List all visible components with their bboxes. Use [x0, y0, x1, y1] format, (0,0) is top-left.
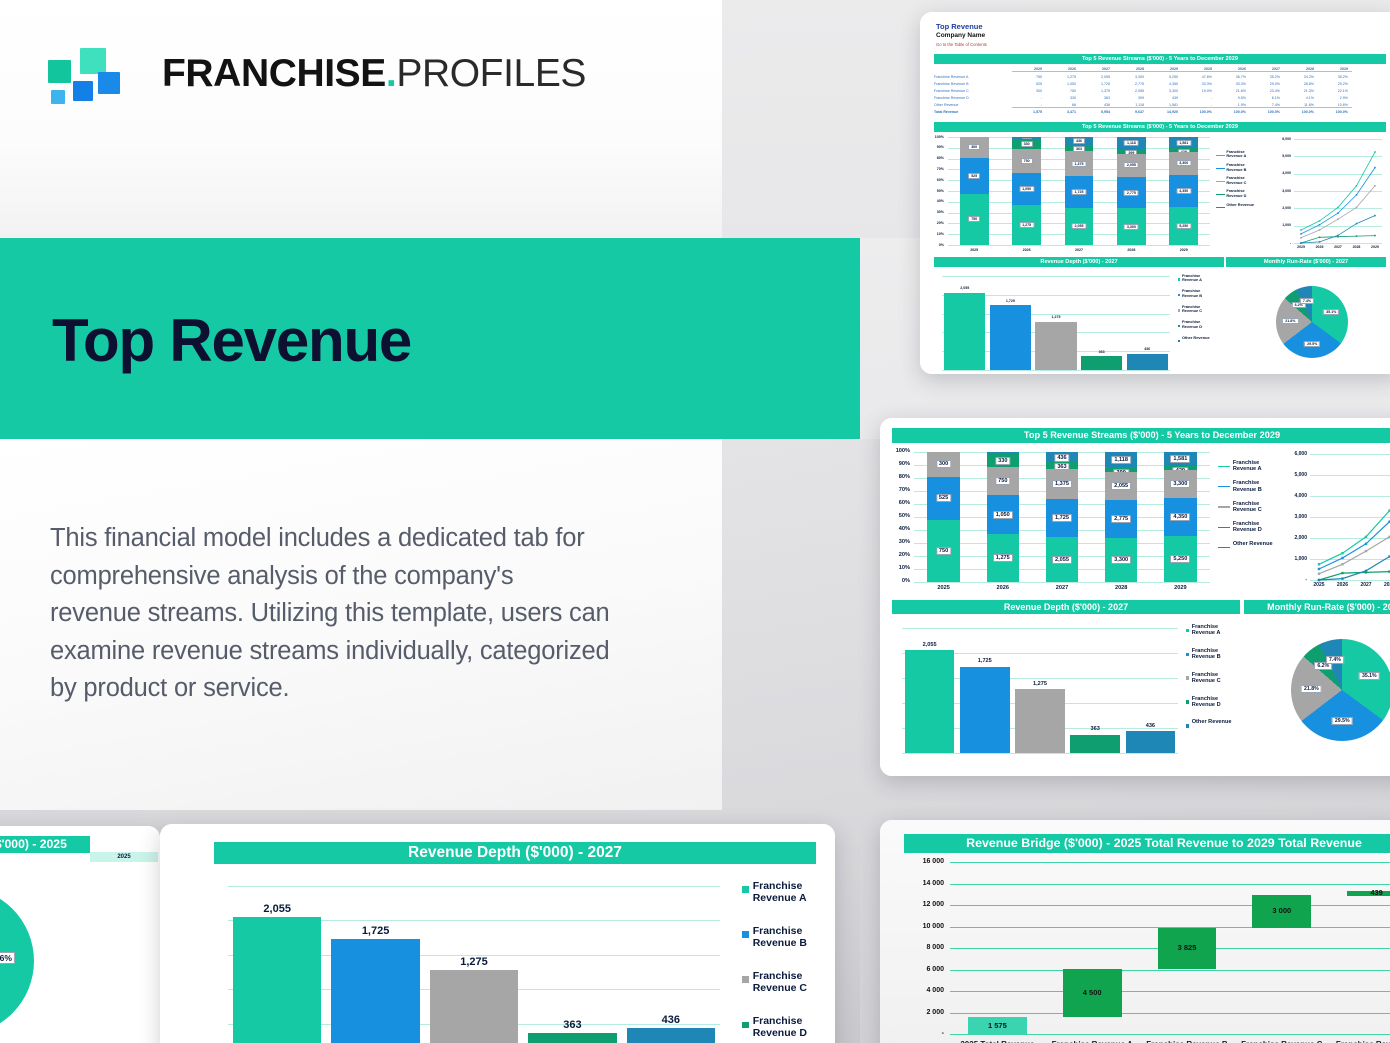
table-year-header: 2029: [1148, 67, 1182, 72]
legend-item: Other Revenue: [1216, 203, 1276, 207]
stacked-bar-segment: 750: [960, 194, 989, 245]
pie-slice-label: 7.4%: [1326, 656, 1344, 664]
banner-runrate-large: Monthly Run-Rate ($'000) - 2027: [1244, 600, 1390, 614]
table-cell-pct: 29.2%: [1318, 82, 1352, 86]
bridge-gridline: [950, 991, 1390, 992]
table-cell: 66: [1046, 103, 1080, 108]
y-axis-tick: 100%: [892, 448, 910, 454]
charts-sheet-large: Top 5 Revenue Streams ($'000) - 5 Years …: [880, 418, 1390, 776]
legend-color-swatch: [1186, 629, 1189, 632]
stacked-bar-segment: 1,275: [1012, 205, 1041, 245]
stacked-bar-column[interactable]: 1,5814293,3004,3505,250: [1164, 452, 1197, 582]
table-cell-pct: 28.8%: [1284, 82, 1318, 86]
y-axis-tick: 50%: [892, 513, 910, 519]
table-cell-pct: 34.2%: [1284, 75, 1318, 79]
table-row-label: Franchise Revenue C: [934, 89, 1006, 93]
y-axis-tick: 90%: [892, 461, 910, 467]
table-cell-pct: 100.0%: [1284, 110, 1318, 114]
table-cell: 750: [1046, 89, 1080, 93]
depth-bar-value: 2,055: [233, 903, 322, 915]
stacked-bar-segment: 3,300: [1105, 538, 1138, 582]
pie-slice-label: 7.4%: [1300, 298, 1314, 304]
table-cell-pct: 36.7%: [1216, 75, 1250, 79]
logo-mark-icon: [46, 46, 114, 108]
segment-value-label: 1,275: [1019, 222, 1034, 228]
pie-slice-label: 47.6%: [0, 952, 15, 964]
stacked-bar-segment: 2,055: [1046, 537, 1079, 582]
x-axis-category: 2029: [1158, 248, 1210, 252]
sheet-title: Top Revenue: [936, 22, 983, 31]
stacked-bar-segment: 1,050: [1012, 173, 1041, 206]
segment-value-label: 3,300: [1124, 224, 1139, 230]
background-top-left: [0, 0, 722, 238]
legend-label: FranchiseRevenue D: [1226, 189, 1246, 198]
legend-color-swatch: [1218, 486, 1230, 488]
legend-label: FranchiseRevenue D: [1233, 521, 1262, 534]
depth-sheet-bottom: Revenue Depth ($'000) - 2027 2,0551,7251…: [160, 824, 835, 1043]
legend-color-swatch: [1218, 527, 1230, 529]
legend-label: FranchiseRevenue B: [1182, 289, 1202, 298]
depth-bar[interactable]: [944, 293, 985, 370]
stacked-bar-segment: 3,300: [1117, 208, 1146, 245]
runrate-pie-large[interactable]: 35.1%29.5%21.8%6.2%7.4%: [1246, 618, 1390, 763]
stacked-bar-segment: 2,775: [1117, 177, 1146, 208]
depth-bar[interactable]: [233, 917, 322, 1043]
table-cell-pct: 100.0%: [1250, 110, 1284, 114]
pie-legend-year-2025: 2025: [90, 852, 158, 862]
x-axis-category: 2025: [914, 585, 973, 591]
stacked-bar-segment: 2,775: [1105, 500, 1138, 537]
legend-item: FranchiseRevenue A: [742, 880, 834, 904]
bridge-y-tick: -: [904, 1030, 944, 1037]
table-cell-pct: 23.4%: [1250, 89, 1284, 93]
brand-name-light: PROFILES: [396, 52, 586, 95]
table-cell-pct: 7.4%: [1250, 103, 1284, 108]
bridge-y-tick: 8 000: [904, 944, 944, 951]
table-cell: -: [1012, 103, 1046, 108]
table-cell-pct: 22.1%: [1318, 89, 1352, 93]
stacked-bar-segment: 1,581: [1169, 137, 1198, 148]
screenshot-card-spreadsheet[interactable]: Top Revenue Company Name Go to the Table…: [920, 12, 1390, 374]
table-row-label: Other Revenue: [934, 103, 1006, 107]
legend-item: FranchiseRevenue A: [1218, 460, 1282, 473]
bridge-bar-value: 3 825: [1158, 943, 1217, 952]
legend-item: FranchiseRevenue D: [1178, 320, 1226, 329]
banner-depth-bottom: Revenue Depth ($'000) - 2027: [214, 842, 816, 864]
segment-value-label: 3,300: [1111, 556, 1131, 564]
table-cell-pct: 9.5%: [1216, 96, 1250, 100]
revenue-bridge-chart[interactable]: -2 0004 0006 0008 00010 00012 00014 0001…: [904, 856, 1390, 1043]
depth-bar-value: 436: [1126, 723, 1176, 729]
legend-item: Other Revenue: [1218, 541, 1282, 547]
table-cell-pct: 100.0%: [1216, 110, 1250, 114]
legend-color-swatch: [1218, 466, 1230, 468]
stacked-bar-segment: 4,350: [1169, 175, 1198, 207]
depth-bar[interactable]: [430, 970, 519, 1043]
stacked-bar-segment: 525: [927, 477, 960, 520]
legend-label: FranchiseRevenue A: [1233, 460, 1262, 473]
legend-label: FranchiseRevenue C: [753, 970, 807, 994]
line-chart-mini[interactable]: 6,0005,0004,0003,0002,0001,000-202520262…: [1276, 133, 1386, 255]
legend-color-swatch: [1216, 194, 1225, 195]
line-chart-large[interactable]: 6,0005,0004,0003,0002,0001,000-202520262…: [1284, 446, 1390, 596]
legend-item: FranchiseRevenue D: [1218, 521, 1282, 534]
bridge-gridline: [950, 862, 1390, 863]
screenshot-card-pie-2025[interactable]: Monthly Run-Rate ($'000) - 2025 2025 47.…: [0, 826, 160, 1043]
revenue-table: 2025202520262026202720272028202820292029…: [934, 67, 1386, 119]
pie-slice-label: 29.5%: [1332, 717, 1353, 725]
table-year-header: 2028: [1114, 67, 1148, 72]
depth-bar[interactable]: [990, 305, 1031, 370]
chart-gridline: [948, 245, 1210, 246]
table-cell: 525: [1012, 82, 1046, 86]
legend-color-swatch: [742, 1022, 749, 1029]
table-cell: 2,775: [1114, 82, 1148, 86]
line-x-tick: 2028: [1376, 582, 1390, 588]
segment-value-label: 1,725: [1071, 189, 1086, 195]
legend-item: FranchiseRevenue A: [1216, 150, 1276, 159]
table-cell-pct: 100.0%: [1318, 110, 1352, 114]
stacked-bar-segment: 5,250: [1164, 536, 1197, 582]
brand-name-dot: .: [386, 52, 396, 95]
legend-item: FranchiseRevenue B: [1218, 480, 1282, 493]
y-axis-tick: 0%: [892, 578, 910, 584]
depth-bar[interactable]: [1035, 322, 1076, 370]
legend-item: FranchiseRevenue B: [1186, 648, 1244, 661]
x-axis-category: 2028: [1105, 248, 1157, 252]
screenshot-card-charts-large[interactable]: Top 5 Revenue Streams ($'000) - 5 Years …: [880, 418, 1390, 776]
bridge-y-tick: 2 000: [904, 1009, 944, 1016]
stacked-bar-column[interactable]: 0300525750: [960, 137, 989, 245]
stacked-bar-column[interactable]: 663307501,0501,275: [987, 452, 1020, 582]
pie-slice-label: 21.8%: [1301, 685, 1322, 693]
segment-value-label: 2,775: [1124, 190, 1139, 196]
stacked-bar-column[interactable]: 0300525750: [927, 452, 960, 582]
depth-bar[interactable]: [1126, 731, 1176, 753]
pie-slice-label: 35.1%: [1323, 309, 1339, 315]
stacked-bar-segment: 1,581: [1164, 452, 1197, 466]
segment-value-label: 1,118: [1124, 140, 1139, 146]
table-cell: 3,300: [1148, 89, 1182, 93]
depth-bar-value: 363: [1081, 350, 1122, 354]
table-cell-pct: 35.2%: [1318, 75, 1352, 79]
page-title: Top Revenue: [52, 305, 411, 377]
table-row-label: Total Revenue: [934, 110, 1006, 114]
legend-item: Other Revenue: [1178, 336, 1226, 341]
legend-color-swatch: [742, 886, 749, 893]
table-cell: 14,920: [1148, 110, 1182, 114]
brand-wordmark: FRANCHISE.PROFILES: [162, 48, 586, 100]
bridge-y-tick: 16 000: [904, 858, 944, 865]
y-axis-tick: 80%: [892, 474, 910, 480]
table-cell: 300: [1012, 89, 1046, 93]
table-cell: 2,055: [1080, 75, 1114, 79]
segment-value-label: 1,118: [1111, 456, 1131, 464]
banner-top5-large: Top 5 Revenue Streams ($'000) - 5 Years …: [892, 428, 1390, 443]
chart-gridline: [902, 753, 1178, 754]
table-cell-pct: 33.3%: [1182, 82, 1216, 86]
depth-bar[interactable]: [1070, 735, 1120, 753]
y-axis-tick: 100%: [934, 135, 944, 139]
table-row-label: Franchise Revenue B: [934, 82, 1006, 86]
pie-chart-2025[interactable]: 47.6%33.3%19.0%0.0%0.0%: [0, 866, 50, 1043]
table-cell-pct: 30.3%: [1216, 82, 1250, 86]
segment-value-label: 4,350: [1170, 513, 1190, 521]
legend-label: Other Revenue: [1182, 336, 1210, 340]
stacked-bar-segment: 1,275: [987, 534, 1020, 582]
bridge-gridline: [950, 1034, 1390, 1035]
legend-item: Other Revenue: [1186, 719, 1244, 725]
depth-bar[interactable]: [528, 1033, 617, 1043]
table-cell-pct: 10.6%: [1318, 103, 1352, 108]
bridge-y-tick: 6 000: [904, 966, 944, 973]
depth-bar[interactable]: [331, 939, 420, 1043]
stacked-bar-segment: 4,350: [1164, 498, 1197, 536]
segment-value-label: 2,055: [1124, 162, 1139, 168]
legend-color-swatch: [1186, 700, 1189, 703]
stacked-bar-segment: 1,375: [1065, 151, 1094, 176]
segment-value-label: 2,055: [1052, 556, 1072, 564]
stacked-bar-segment: 1,050: [987, 495, 1020, 534]
segment-value-label: 525: [968, 173, 980, 179]
stacked-bar-column[interactable]: 1,1183992,0552,7753,300: [1117, 137, 1146, 245]
table-cell: 1,581: [1148, 103, 1182, 108]
table-cell-pct: 2.9%: [1318, 96, 1352, 100]
table-cell: 750: [1012, 75, 1046, 79]
table-year-header-pct: 2029: [1318, 67, 1352, 72]
x-axis-category: 2026: [1000, 248, 1052, 252]
table-cell: 5,250: [1148, 75, 1182, 79]
y-axis-tick: 20%: [892, 552, 910, 558]
depth-bar-value: 1,275: [1035, 315, 1076, 319]
segment-value-label: 3,300: [1176, 160, 1191, 166]
stacked-bar-segment: 5,250: [1169, 207, 1198, 245]
chart-gridline: [914, 582, 1210, 583]
brand-name-bold: FRANCHISE: [162, 52, 386, 95]
legend-item: FranchiseRevenue A: [1186, 624, 1244, 637]
y-axis-tick: 40%: [892, 526, 910, 532]
legend-color-swatch: [742, 976, 749, 983]
stacked-bar-column[interactable]: 1,1183992,0552,7753,300: [1105, 452, 1138, 582]
legend-color-swatch: [1178, 278, 1180, 280]
segment-value-label: 1,375: [1052, 480, 1072, 488]
line-series-svg: [1276, 133, 1386, 255]
table-cell: 1,118: [1114, 103, 1148, 108]
depth-bar[interactable]: [1127, 354, 1168, 370]
depth-bar-value: 436: [627, 1014, 716, 1026]
bridge-sheet: Revenue Bridge ($'000) - 2025 Total Reve…: [880, 820, 1390, 1043]
segment-value-label: 330: [995, 457, 1010, 465]
segment-value-label: 1,275: [993, 554, 1013, 562]
segment-value-label: 436: [1054, 454, 1069, 462]
legend-item: FranchiseRevenue C: [1186, 672, 1244, 685]
legend-label: FranchiseRevenue C: [1192, 672, 1221, 685]
legend-color-swatch: [1178, 309, 1180, 311]
bridge-y-tick: 14 000: [904, 880, 944, 887]
table-cell: 1,050: [1046, 82, 1080, 86]
y-axis-tick: 60%: [892, 500, 910, 506]
table-year-header: 2025: [1012, 67, 1046, 72]
stacked-bar-segment: 1,725: [1046, 499, 1079, 537]
segment-value-label: 1,050: [1019, 186, 1034, 192]
banner-bridge: Revenue Bridge ($'000) - 2025 Total Reve…: [904, 834, 1390, 853]
segment-value-label: 3,300: [1170, 480, 1190, 488]
table-cell-pct: 4.1%: [1284, 96, 1318, 100]
pie-slice-label: 35.1%: [1359, 672, 1380, 680]
table-year-header: 2026: [1046, 67, 1080, 72]
stacked-bar-chart-mini[interactable]: 100%90%80%70%60%50%40%30%20%10%0%0300525…: [934, 133, 1214, 255]
legend-item: FranchiseRevenue C: [1218, 501, 1282, 514]
y-axis-tick: 10%: [934, 232, 944, 236]
stacked-bar-chart-large[interactable]: 100%90%80%70%60%50%40%30%20%10%0%0300525…: [892, 446, 1214, 596]
legend-label: FranchiseRevenue B: [1233, 480, 1262, 493]
revenue-depth-legend-bottom: FranchiseRevenue AFranchiseRevenue BFran…: [742, 880, 834, 1043]
depth-bar[interactable]: [905, 650, 955, 753]
legend-label: FranchiseRevenue C: [1233, 501, 1262, 514]
segment-value-label: 1,581: [1170, 455, 1190, 463]
bridge-y-tick: 12 000: [904, 901, 944, 908]
depth-bar-value: 363: [528, 1019, 617, 1031]
table-year-header-pct: 2026: [1216, 67, 1250, 72]
sheet-company-name: Company Name: [936, 32, 985, 39]
screenshot-card-bridge[interactable]: Revenue Bridge ($'000) - 2025 Total Reve…: [880, 820, 1390, 1043]
legend-label: Other Revenue: [1192, 719, 1232, 725]
y-axis-tick: 0%: [934, 243, 944, 247]
legend-item: FranchiseRevenue C: [1216, 176, 1276, 185]
runrate-pie-mini[interactable]: 35.1%29.5%21.8%6.2%7.4%: [1226, 270, 1386, 374]
bridge-bar-value: 439: [1347, 888, 1390, 897]
depth-bar-value: 1,725: [331, 925, 420, 937]
legend-label: Other Revenue: [1226, 203, 1254, 207]
y-axis-tick: 40%: [934, 199, 944, 203]
legend-color-swatch: [1178, 325, 1180, 327]
stacked-bar-segment: 3,300: [1164, 470, 1197, 499]
screenshot-card-depth-bottom[interactable]: Revenue Depth ($'000) - 2027 2,0551,7251…: [160, 824, 835, 1043]
stacked-bar-segment: 1,118: [1105, 452, 1138, 467]
pie-slice-label: 29.5%: [1304, 341, 1320, 347]
revenue-depth-legend-large: FranchiseRevenue AFranchiseRevenue BFran…: [1186, 624, 1244, 737]
legend-label: FranchiseRevenue A: [1192, 624, 1221, 637]
depth-bar-value: 1,725: [960, 658, 1010, 664]
banner-depth-large: Revenue Depth ($'000) - 2027: [892, 600, 1240, 614]
table-cell: 3,300: [1114, 75, 1148, 79]
table-cell-pct: -: [1182, 96, 1216, 100]
stacked-bar-segment: 750: [1012, 149, 1041, 172]
y-axis-tick: 10%: [892, 565, 910, 571]
bridge-bar-value: 4 500: [1063, 988, 1122, 997]
legend-label: FranchiseRevenue C: [1182, 305, 1202, 314]
table-cell: 363: [1080, 96, 1114, 100]
legend-color-swatch: [1186, 724, 1189, 727]
bridge-gridline: [950, 1013, 1390, 1014]
stacked-bar-column[interactable]: 4363631,3751,7252,055: [1065, 137, 1094, 245]
segment-value-label: 2,055: [1071, 223, 1086, 229]
x-axis-category: 2026: [973, 585, 1032, 591]
x-axis-category: 2029: [1151, 585, 1210, 591]
stacked-bar-column[interactable]: 4363631,3751,7252,055: [1046, 452, 1079, 582]
legend-label: FranchiseRevenue A: [753, 880, 807, 904]
legend-item: FranchiseRevenue B: [742, 925, 834, 949]
legend-item: FranchiseRevenue C: [1178, 305, 1226, 314]
legend-label: Other Revenue: [1233, 541, 1273, 547]
legend-label: FranchiseRevenue B: [753, 925, 807, 949]
table-cell-pct: 100.0%: [1182, 110, 1216, 114]
stacked-bar-segment: 2,055: [1117, 154, 1146, 177]
depth-bar[interactable]: [627, 1028, 716, 1043]
bridge-bar-value: 1 575: [968, 1021, 1027, 1030]
table-cell: 9,647: [1114, 110, 1148, 114]
x-axis-category: 2027: [1053, 248, 1105, 252]
segment-value-label: 1,725: [1052, 514, 1072, 522]
legend-label: FranchiseRevenue A: [1226, 150, 1246, 159]
line-series-svg: [1284, 446, 1390, 596]
segment-value-label: 5,250: [1176, 223, 1191, 229]
table-cell-pct: 21.6%: [1216, 89, 1250, 93]
revenue-depth-chart-bottom[interactable]: 2,0551,7251,275363436: [214, 870, 724, 1043]
sheet-banner-top5-chart: Top 5 Revenue Streams ($'000) - 5 Years …: [934, 122, 1386, 132]
revenue-depth-chart-large[interactable]: 2,0551,7251,275363436: [892, 618, 1182, 763]
legend-item: FranchiseRevenue B: [1178, 289, 1226, 298]
table-cell: -: [1012, 96, 1046, 100]
legend-label: FranchiseRevenue B: [1192, 648, 1221, 661]
depth-bar[interactable]: [1015, 689, 1065, 753]
depth-bar[interactable]: [1081, 356, 1122, 370]
stacked-bar-segment: 363: [1065, 145, 1094, 152]
stacked-bar-segment: 436: [1065, 137, 1094, 145]
description-paragraph: This financial model includes a dedicate…: [50, 520, 610, 708]
y-axis-tick: 90%: [934, 145, 944, 149]
table-cell: 3,471: [1046, 110, 1080, 114]
legend-label: FranchiseRevenue D: [1192, 696, 1221, 709]
table-cell-pct: 1.9%: [1216, 103, 1250, 108]
legend-color-swatch: [1178, 294, 1180, 296]
stacked-bar-column[interactable]: 663307501,0501,275: [1012, 137, 1041, 245]
chart-gridline: [942, 276, 1170, 277]
legend-item: FranchiseRevenue B: [1216, 163, 1276, 172]
depth-bar-value: 1,725: [990, 299, 1031, 303]
legend-color-swatch: [1186, 676, 1189, 679]
stacked-bar-segment: 750: [987, 467, 1020, 495]
table-cell-pct: -: [1182, 103, 1216, 108]
revenue-depth-chart-mini[interactable]: 2,0551,7251,275363436: [934, 270, 1174, 374]
y-axis-tick: 30%: [892, 539, 910, 545]
pie-sheet-2025: Monthly Run-Rate ($'000) - 2025 2025 47.…: [0, 826, 160, 1043]
chart-gridline: [902, 628, 1178, 629]
legend-color-swatch: [1216, 207, 1225, 208]
sheet-toc-link[interactable]: Go to the Table of Contents: [936, 42, 987, 47]
legend-label: FranchiseRevenue C: [1226, 176, 1246, 185]
stacked-chart-legend-mini: FranchiseRevenue AFranchiseRevenue BFran…: [1216, 150, 1276, 211]
bridge-gridline: [950, 884, 1390, 885]
stacked-bar-segment: 1,725: [1065, 176, 1094, 207]
bridge-bar-value: 3 000: [1252, 906, 1311, 915]
y-axis-tick: 70%: [892, 487, 910, 493]
depth-bar-value: 436: [1127, 347, 1168, 351]
stacked-bar-column[interactable]: 1,5814293,3004,3505,250: [1169, 137, 1198, 245]
depth-bar[interactable]: [960, 667, 1010, 753]
x-axis-category: 2028: [1092, 585, 1151, 591]
table-cell-pct: 47.6%: [1182, 75, 1216, 79]
legend-item: FranchiseRevenue D: [1216, 189, 1276, 198]
legend-color-swatch: [1216, 155, 1225, 156]
table-year-header-pct: 2028: [1284, 67, 1318, 72]
segment-value-label: 750: [936, 547, 951, 555]
brand-logo[interactable]: FRANCHISE.PROFILES: [46, 46, 546, 108]
legend-color-swatch: [1216, 181, 1225, 182]
y-axis-tick: 30%: [934, 210, 944, 214]
sheet-banner-runrate: Monthly Run-Rate ($'000) - 2027: [1226, 257, 1386, 267]
table-cell: 2,055: [1114, 89, 1148, 93]
